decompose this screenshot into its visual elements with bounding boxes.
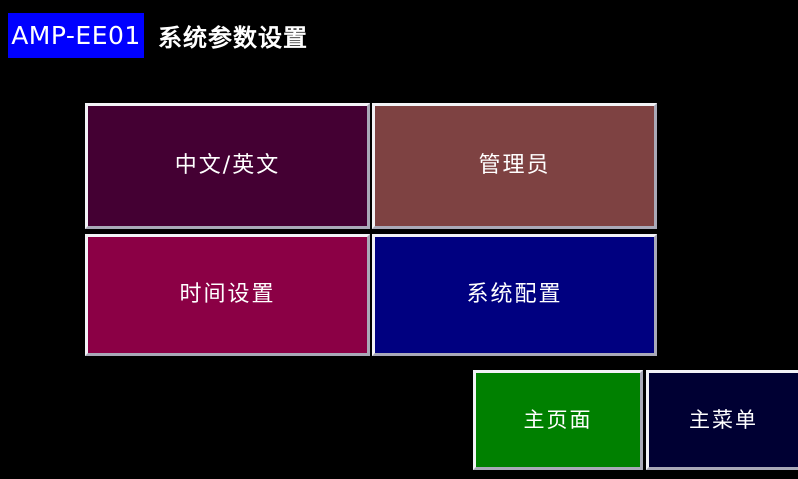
system-config-label: 系统配置	[466, 284, 562, 306]
administrator-button[interactable]: 管理员	[372, 103, 657, 229]
main-menu-label: 主菜单	[689, 410, 758, 431]
administrator-label: 管理员	[478, 155, 550, 177]
language-toggle-label: 中文/英文	[175, 155, 280, 177]
main-menu-button[interactable]: 主菜单	[646, 370, 798, 470]
header-bar: AMP-EE01 系统参数设置	[0, 0, 798, 70]
home-page-label: 主页面	[524, 410, 593, 431]
hmi-screen: { "header": { "device_id": "AMP-EE01", "…	[0, 0, 798, 479]
system-config-button[interactable]: 系统配置	[372, 234, 657, 356]
home-page-button[interactable]: 主页面	[473, 370, 643, 470]
time-settings-button[interactable]: 时间设置	[85, 234, 370, 356]
time-settings-label: 时间设置	[179, 284, 275, 306]
page-title: 系统参数设置	[158, 13, 308, 58]
device-id-badge: AMP-EE01	[8, 13, 144, 58]
language-toggle-button[interactable]: 中文/英文	[85, 103, 370, 229]
